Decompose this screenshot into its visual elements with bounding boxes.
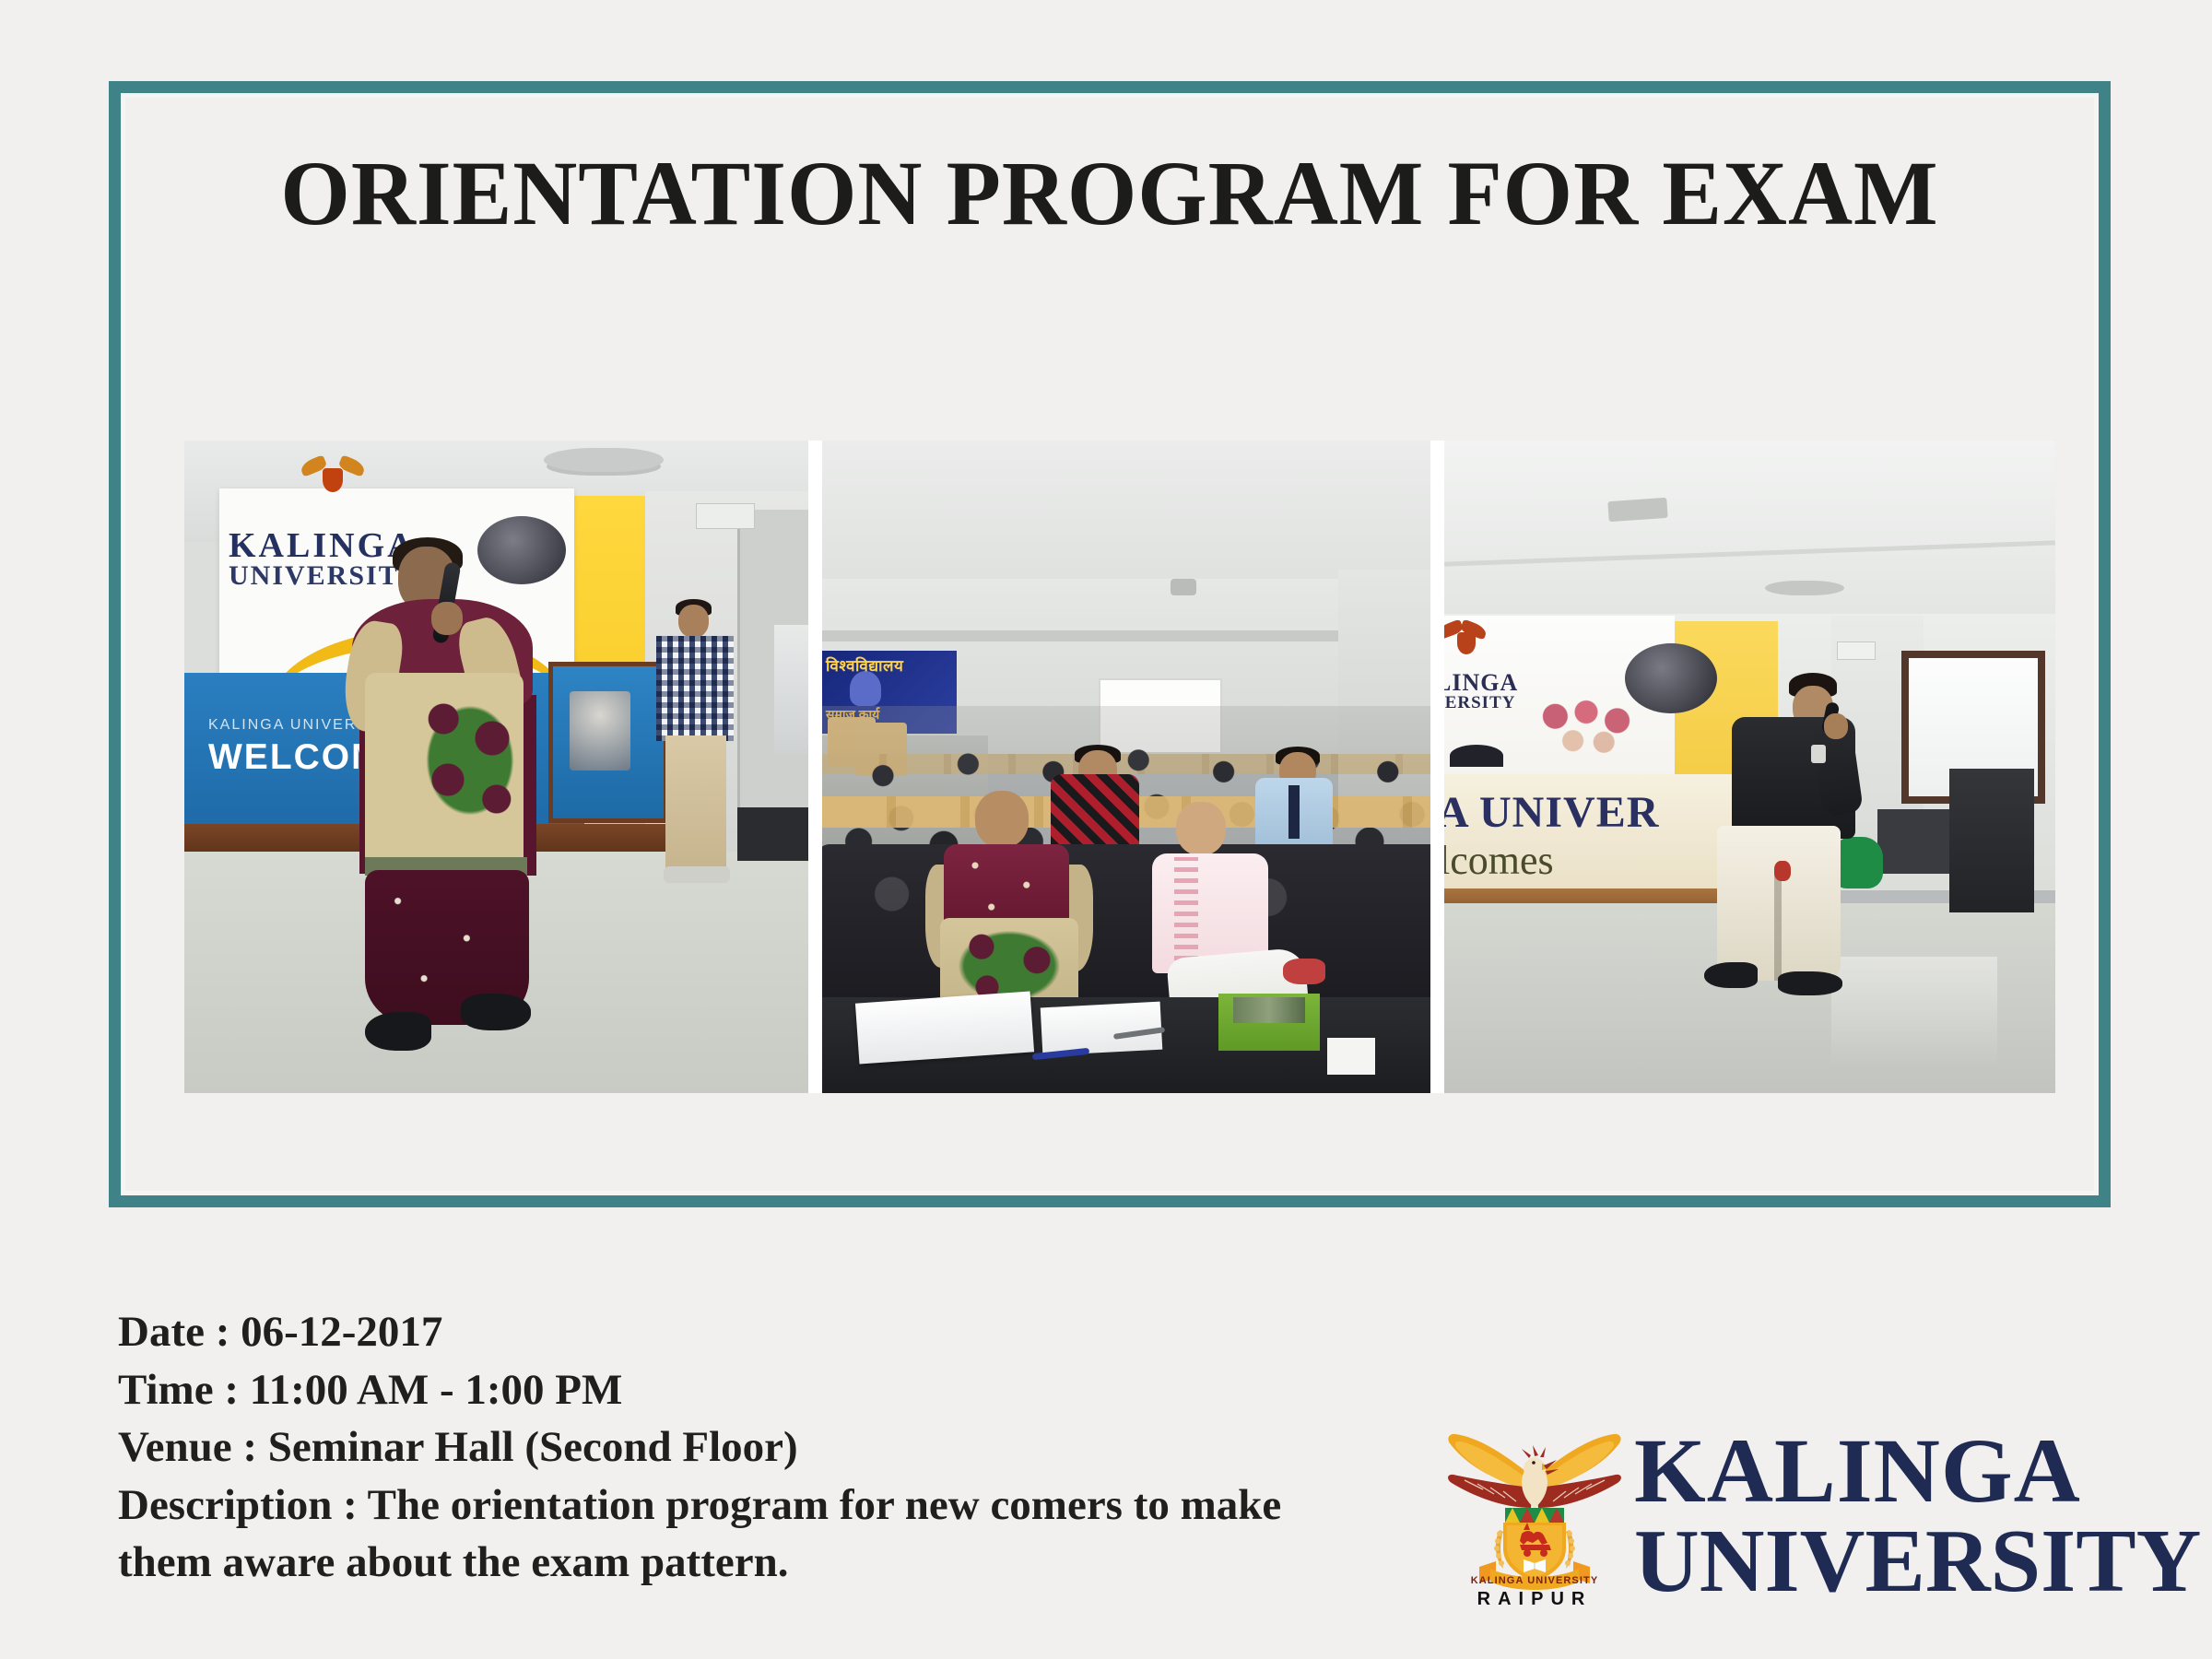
front-attendee-head <box>975 791 1029 848</box>
photo-gallery-strip: KALINGA UNIVERSITY KALINGA UNIVERSITY WE… <box>184 441 2055 1093</box>
speaker-floral-pattern <box>415 691 525 829</box>
page-title: ORIENTATION PROGRAM FOR EXAM <box>155 140 2065 246</box>
side-desk <box>1877 809 1960 874</box>
speaker-right-shoe <box>461 994 531 1030</box>
event-poster: ORIENTATION PROGRAM FOR EXAM KALINGA <box>0 0 2212 1659</box>
presenter-left-shoe <box>1704 962 1758 988</box>
event-venue: Venue : Seminar Hall (Second Floor) <box>118 1418 1335 1477</box>
bystander-head <box>678 605 709 638</box>
poster-frame: ORIENTATION PROGRAM FOR EXAM KALINGA <box>109 81 2111 1207</box>
dupatta-stripe-pattern <box>1174 857 1198 971</box>
air-conditioner-unit <box>696 503 755 529</box>
ceiling-vent <box>1607 498 1667 522</box>
photo-seminar-hall-audience: विश्वविद्यालय समाज कार्य <box>822 441 1430 1093</box>
event-description: Description : The orientation program fo… <box>118 1477 1307 1592</box>
presenter-hand <box>1824 713 1848 739</box>
banner-crest-icon <box>302 450 363 501</box>
speaker-hand <box>431 602 463 635</box>
ceiling <box>822 441 1430 588</box>
presenter-leg-separation <box>1774 874 1782 981</box>
bystander-checkered-shirt <box>656 636 734 741</box>
banner-university-name-line2: VERSITY <box>1444 693 1542 713</box>
ceiling-fan-icon <box>1765 581 1844 595</box>
welcome-banner-line2: lcomes <box>1444 837 1734 884</box>
ceiling-fan-icon <box>544 448 664 472</box>
equipment-rack <box>737 807 808 861</box>
ceiling-light <box>1171 579 1196 595</box>
bystander-trousers <box>665 735 726 874</box>
crest-city-label: RAIPUR <box>1442 1589 1627 1610</box>
banner-crest-icon <box>1444 616 1498 662</box>
university-crest-icon: KALINGA UNIVERSITY RAIPUR <box>1442 1430 1627 1615</box>
paper-sheet <box>1041 1002 1163 1056</box>
svg-text:KALINGA UNIVERSITY: KALINGA UNIVERSITY <box>1471 1575 1599 1586</box>
kalinga-university-logo: KALINGA UNIVERSITY RAIPUR KALINGA UNIVER… <box>1442 1430 2180 1633</box>
logo-wordmark: KALINGA UNIVERSITY <box>1634 1427 2201 1609</box>
presenter-id-badge <box>1811 745 1826 763</box>
ceiling <box>1444 441 2055 625</box>
framed-poster-photo <box>570 691 630 771</box>
second-front-attendee-head <box>1176 802 1226 855</box>
attendee-necktie <box>1288 785 1300 839</box>
event-date: Date : 06-12-2017 <box>118 1303 1335 1361</box>
second-bystander <box>774 625 808 754</box>
banner-dark-element <box>1450 745 1503 767</box>
loudspeaker <box>1949 769 2034 912</box>
event-time: Time : 11:00 AM - 1:00 PM <box>118 1361 1335 1419</box>
bystander-shoes <box>664 866 730 883</box>
poster-frame-inner-border: ORIENTATION PROGRAM FOR EXAM KALINGA <box>121 93 2099 1195</box>
side-banner-line1: विश्वविद्यालय <box>826 654 955 676</box>
speaker-left-shoe <box>365 1012 431 1051</box>
second-front-attendee-shoe <box>1283 959 1325 984</box>
presenter-pocket-detail <box>1774 861 1791 881</box>
photo-speaker-with-microphone: KALINGA UNIVERSITY KALINGA UNIVERSITY WE… <box>184 441 808 1093</box>
banner-university-name-line2: UNIVERSITY <box>229 560 505 592</box>
crest-svg: KALINGA UNIVERSITY <box>1442 1430 1627 1615</box>
presenter-right-shoe <box>1778 971 1842 995</box>
white-box <box>1327 1038 1375 1075</box>
welcome-banner-line1: A UNIVER <box>1444 787 1732 838</box>
banner-group-photo <box>1531 688 1641 759</box>
logo-line-university: UNIVERSITY <box>1634 1515 2201 1609</box>
banner-figure-icon <box>850 671 881 706</box>
air-conditioner-unit <box>1837 641 1876 660</box>
logo-line-kalinga: KALINGA <box>1634 1427 2201 1515</box>
open-notebook <box>855 991 1034 1064</box>
banner-oval-photo <box>477 516 566 584</box>
event-details: Date : 06-12-2017 Time : 11:00 AM - 1:00… <box>118 1303 1335 1592</box>
green-book-cover-image <box>1233 997 1305 1023</box>
floor-reflection <box>1831 957 1997 1067</box>
front-row-sofa <box>822 844 1430 1010</box>
front-attendee-top <box>944 844 1069 929</box>
photo-presenter-walking: LINGA VERSITY A UNIVER lcomes <box>1444 441 2055 1093</box>
